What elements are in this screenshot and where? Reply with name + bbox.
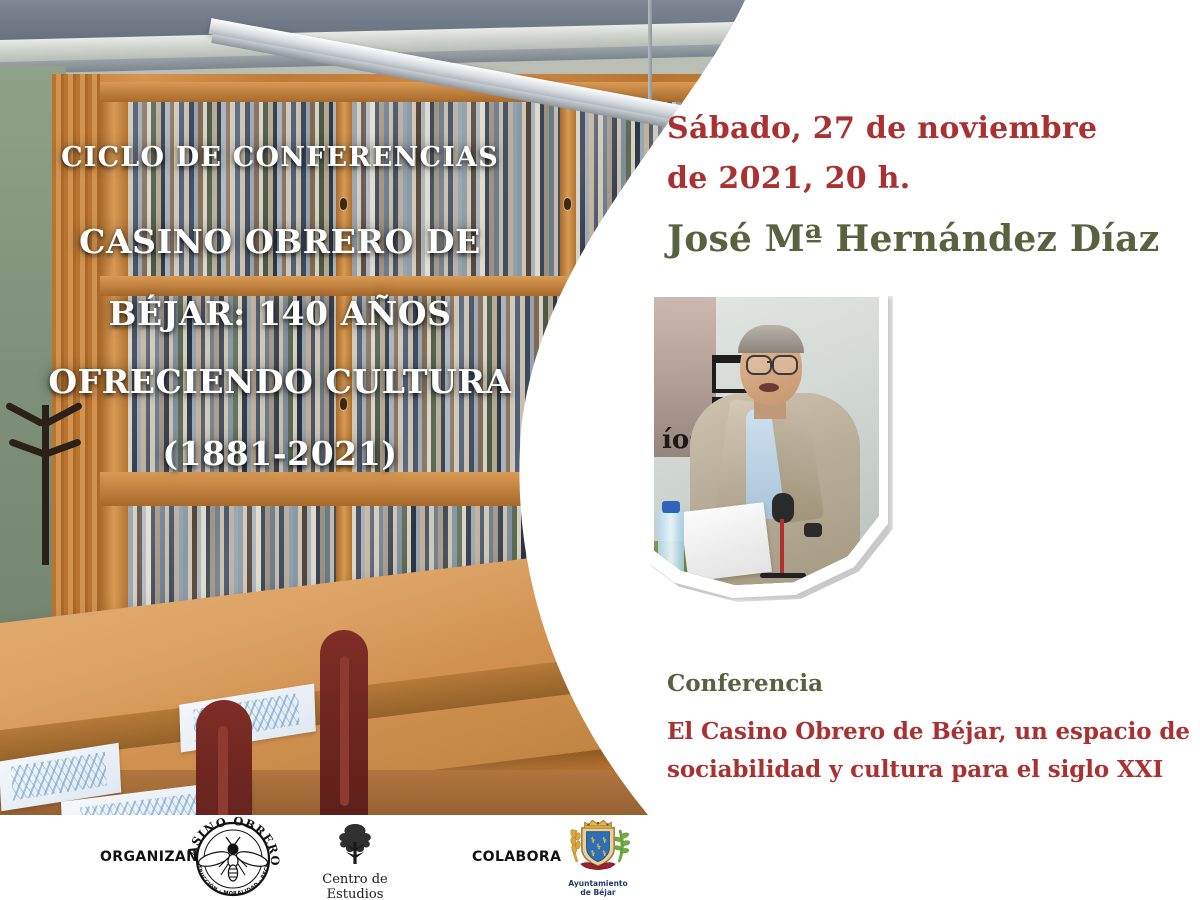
photo-image: íos xyxy=(654,297,879,585)
speaker-name: José Mª Hernández Díaz xyxy=(667,218,1159,260)
crown-icon xyxy=(585,820,612,828)
cabinet-keyhole xyxy=(564,198,571,210)
cabinet-keyhole xyxy=(340,198,347,210)
casino-obrero-seal-icon: CASINO OBRERO INSTRUCCIÓN · MORALIDAD · … xyxy=(181,817,285,897)
tree-icon xyxy=(325,818,385,866)
ayuntamiento-bejar-logo: Ayuntamiento de Béjar xyxy=(558,816,638,900)
casino-obrero-logo: CASINO OBRERO INSTRUCCIÓN · MORALIDAD · … xyxy=(181,817,285,897)
conference-title-line-2: sociabilidad y cultura para el siglo XXI xyxy=(667,756,1163,783)
conference-title-line-1: El Casino Obrero de Béjar, un espacio de xyxy=(667,718,1190,745)
series-label: CICLO DE CONFERENCIAS xyxy=(0,142,560,173)
poster-root: CICLO DE CONFERENCIAS CASINO OBRERO DE B… xyxy=(0,0,1200,900)
event-date-line-1: Sábado, 27 de noviembre xyxy=(667,111,1097,146)
centro-line-1: Centro de Estudios xyxy=(295,873,415,900)
title-line-4: (1881-2021) xyxy=(0,434,560,473)
chair-slat xyxy=(340,656,349,806)
bookcase-rail xyxy=(100,82,760,102)
title-line-2: BÉJAR: 140 AÑOS xyxy=(0,294,560,333)
title-line-1: CASINO OBRERO DE xyxy=(0,222,560,261)
coat-rack xyxy=(2,385,88,565)
collaborator-label: COLABORA xyxy=(472,849,561,865)
event-date-line-2: de 2021, 20 h. xyxy=(667,161,911,196)
chair-slat xyxy=(218,726,228,815)
title-line-3: OFRECIENDO CULTURA xyxy=(0,362,560,401)
centro-estudios-bejaranos-logo: Centro de Estudios Bejaranos xyxy=(295,818,415,898)
cabinet-keyhole xyxy=(564,398,571,410)
coat-of-arms-icon xyxy=(560,816,636,874)
bee-icon xyxy=(197,837,269,881)
speaker-photo: íos xyxy=(645,288,888,598)
ayuntamiento-line-2: de Béjar xyxy=(558,889,638,898)
conference-label: Conferencia xyxy=(667,670,823,697)
